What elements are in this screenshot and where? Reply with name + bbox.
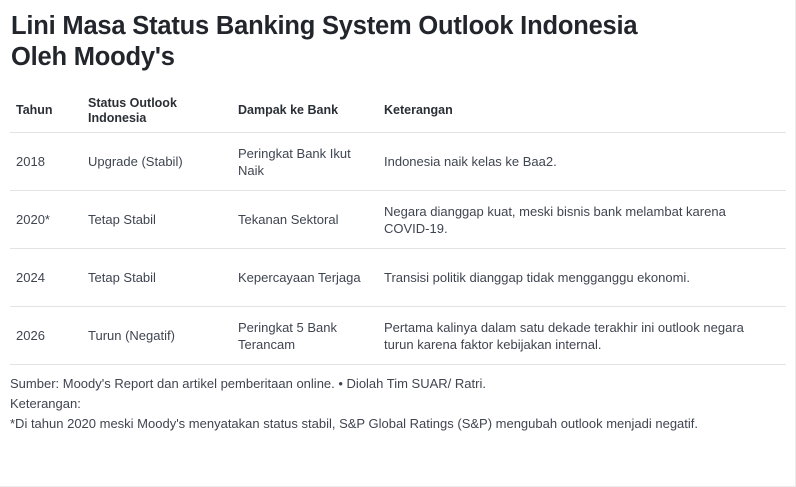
infographic-table-page: Lini Masa Status Banking System Outlook …: [0, 0, 796, 487]
table-row: 2026 Turun (Negatif) Peringkat 5 Bank Te…: [10, 307, 786, 365]
cell-status: Upgrade (Stabil): [81, 153, 233, 170]
cell-year: 2020*: [10, 211, 81, 228]
column-header-impact: Dampak ke Bank: [233, 103, 379, 118]
footnote-keterangan-label: Keterangan:: [10, 394, 781, 414]
column-header-status-line-1: Status Outlook: [88, 96, 223, 111]
table-row: 2020* Tetap Stabil Tekanan Sektoral Nega…: [10, 191, 786, 249]
cell-year: 2018: [10, 153, 81, 170]
cell-status: Turun (Negatif): [81, 327, 233, 344]
footnote-keterangan-text: *Di tahun 2020 meski Moody's menyatakan …: [10, 414, 781, 434]
footnotes: Sumber: Moody's Report dan artikel pembe…: [0, 365, 795, 434]
cell-year: 2026: [10, 327, 81, 344]
timeline-table: Tahun Status Outlook Indonesia Dampak ke…: [0, 89, 796, 365]
page-title-line-1: Lini Masa Status Banking System Outlook …: [11, 11, 777, 42]
cell-year: 2024: [10, 269, 81, 286]
table-row: 2024 Tetap Stabil Kepercayaan Terjaga Tr…: [10, 249, 786, 307]
column-header-year: Tahun: [10, 103, 81, 118]
cell-impact: Kepercayaan Terjaga: [233, 269, 379, 286]
table-row: 2018 Upgrade (Stabil) Peringkat Bank Iku…: [10, 133, 786, 191]
page-title: Lini Masa Status Banking System Outlook …: [0, 0, 795, 73]
cell-note: Transisi politik dianggap tidak menggang…: [379, 269, 786, 286]
cell-status: Tetap Stabil: [81, 269, 233, 286]
footnote-source: Sumber: Moody's Report dan artikel pembe…: [10, 374, 781, 394]
column-header-status: Status Outlook Indonesia: [81, 96, 233, 126]
column-header-status-line-2: Indonesia: [88, 111, 223, 126]
cell-impact: Peringkat Bank Ikut Naik: [233, 145, 379, 179]
table-header-row: Tahun Status Outlook Indonesia Dampak ke…: [10, 89, 786, 133]
cell-impact: Peringkat 5 Bank Terancam: [233, 319, 379, 353]
cell-note: Indonesia naik kelas ke Baa2.: [379, 153, 786, 170]
column-header-note: Keterangan: [379, 103, 786, 118]
cell-note: Pertama kalinya dalam satu dekade terakh…: [379, 319, 786, 353]
cell-status: Tetap Stabil: [81, 211, 233, 228]
cell-note: Negara dianggap kuat, meski bisnis bank …: [379, 203, 786, 237]
cell-impact: Tekanan Sektoral: [233, 211, 379, 228]
page-title-line-2: Oleh Moody's: [11, 42, 777, 73]
